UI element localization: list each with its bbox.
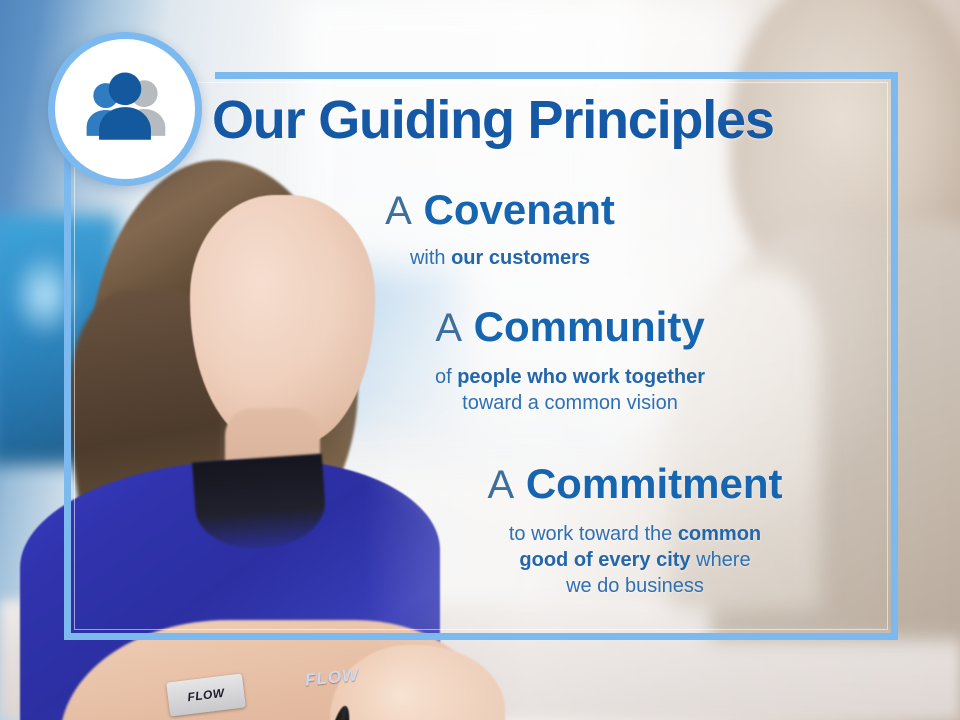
principle-covenant-heading: A Covenant <box>300 188 700 233</box>
principle-covenant: A Covenant with our customers <box>300 188 700 271</box>
principle-community-keyword: Community <box>474 303 705 350</box>
description-line: with our customers <box>300 245 700 271</box>
people-badge <box>48 32 202 186</box>
principle-commitment-article: A <box>487 463 514 507</box>
group-of-people-icon <box>77 61 173 157</box>
principle-covenant-description: with our customers <box>300 245 700 271</box>
principle-community: A Community of people who work togethert… <box>350 305 790 416</box>
principle-covenant-article: A <box>385 189 412 233</box>
principle-commitment-description: to work toward the commongood of every c… <box>400 521 870 600</box>
principle-community-description: of people who work togethertoward a comm… <box>350 364 790 417</box>
guiding-principles-banner: FLOW FLOW Our Guiding Principles <box>0 0 960 720</box>
description-line: of people who work together <box>350 364 790 390</box>
principle-covenant-keyword: Covenant <box>424 186 615 233</box>
description-line: we do business <box>400 573 870 599</box>
page-title: Our Guiding Principles <box>212 93 872 147</box>
principle-community-heading: A Community <box>350 305 790 350</box>
principle-commitment: A Commitment to work toward the commongo… <box>400 462 870 600</box>
decorative-frame-top <box>215 72 898 79</box>
principle-commitment-keyword: Commitment <box>526 460 783 507</box>
description-line: good of every city where <box>400 547 870 573</box>
principle-commitment-heading: A Commitment <box>400 462 870 507</box>
description-line: toward a common vision <box>350 390 790 416</box>
description-line: to work toward the common <box>400 521 870 547</box>
principle-community-article: A <box>435 306 462 350</box>
